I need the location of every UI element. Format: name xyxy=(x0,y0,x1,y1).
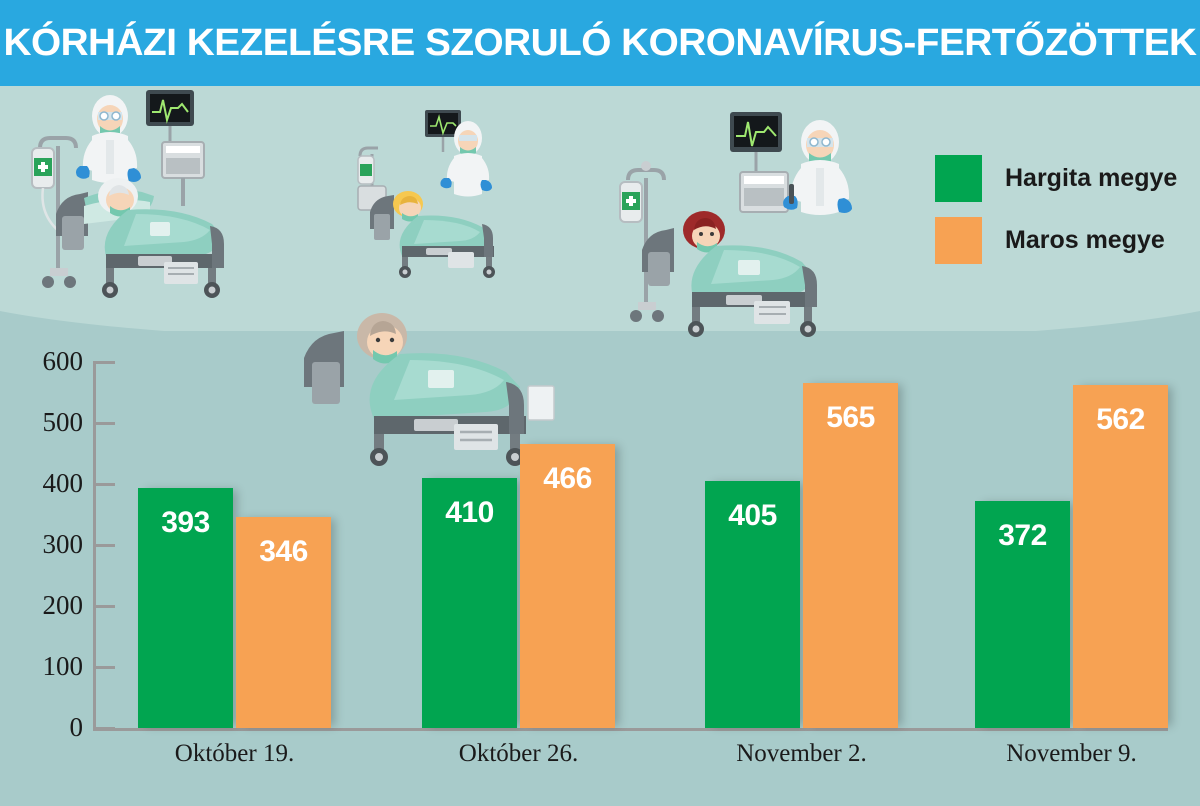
bar-chart: 0100200300400500600 39334641046640556537… xyxy=(0,0,1200,806)
infographic-root: KÓRHÁZI KEZELÉSRE SZORULÓ KORONAVÍRUS-FE… xyxy=(0,0,1200,806)
chart-legend: Hargita megye Maros megye xyxy=(935,155,1177,279)
green-square-swatch-icon xyxy=(935,155,982,202)
category-label-0: Október 19. xyxy=(85,740,385,768)
legend-label-hargita: Hargita megye xyxy=(1005,164,1177,193)
y-tick-label: 100 xyxy=(3,653,83,680)
x-axis-line xyxy=(93,728,1168,731)
category-label-1: Október 26. xyxy=(369,740,669,768)
bar-value-label: 410 xyxy=(422,496,517,530)
category-label-3: November 9. xyxy=(922,740,1200,768)
bar-value-label: 565 xyxy=(803,401,898,435)
y-tick-mark xyxy=(93,361,115,364)
y-tick-mark xyxy=(93,544,115,547)
y-tick-mark xyxy=(93,605,115,608)
bar-value-label: 372 xyxy=(975,519,1070,553)
bar-value-label: 405 xyxy=(705,499,800,533)
page-title: KÓRHÁZI KEZELÉSRE SZORULÓ KORONAVÍRUS-FE… xyxy=(0,0,1200,86)
y-tick-label: 0 xyxy=(3,714,83,741)
legend-item-maros: Maros megye xyxy=(935,217,1177,264)
bar-value-label: 346 xyxy=(236,535,331,569)
y-tick-label: 300 xyxy=(3,531,83,558)
y-tick-label: 200 xyxy=(3,592,83,619)
legend-item-hargita: Hargita megye xyxy=(935,155,1177,202)
y-tick-label: 500 xyxy=(3,409,83,436)
y-tick-mark xyxy=(93,727,115,730)
y-tick-label: 400 xyxy=(3,470,83,497)
y-tick-label: 600 xyxy=(3,348,83,375)
orange-square-swatch-icon xyxy=(935,217,982,264)
category-label-2: November 2. xyxy=(652,740,952,768)
y-tick-mark xyxy=(93,483,115,486)
y-tick-mark xyxy=(93,422,115,425)
bar-value-label: 466 xyxy=(520,462,615,496)
bar-value-label: 393 xyxy=(138,506,233,540)
y-tick-mark xyxy=(93,666,115,669)
bar-value-label: 562 xyxy=(1073,403,1168,437)
legend-label-maros: Maros megye xyxy=(1005,226,1165,255)
